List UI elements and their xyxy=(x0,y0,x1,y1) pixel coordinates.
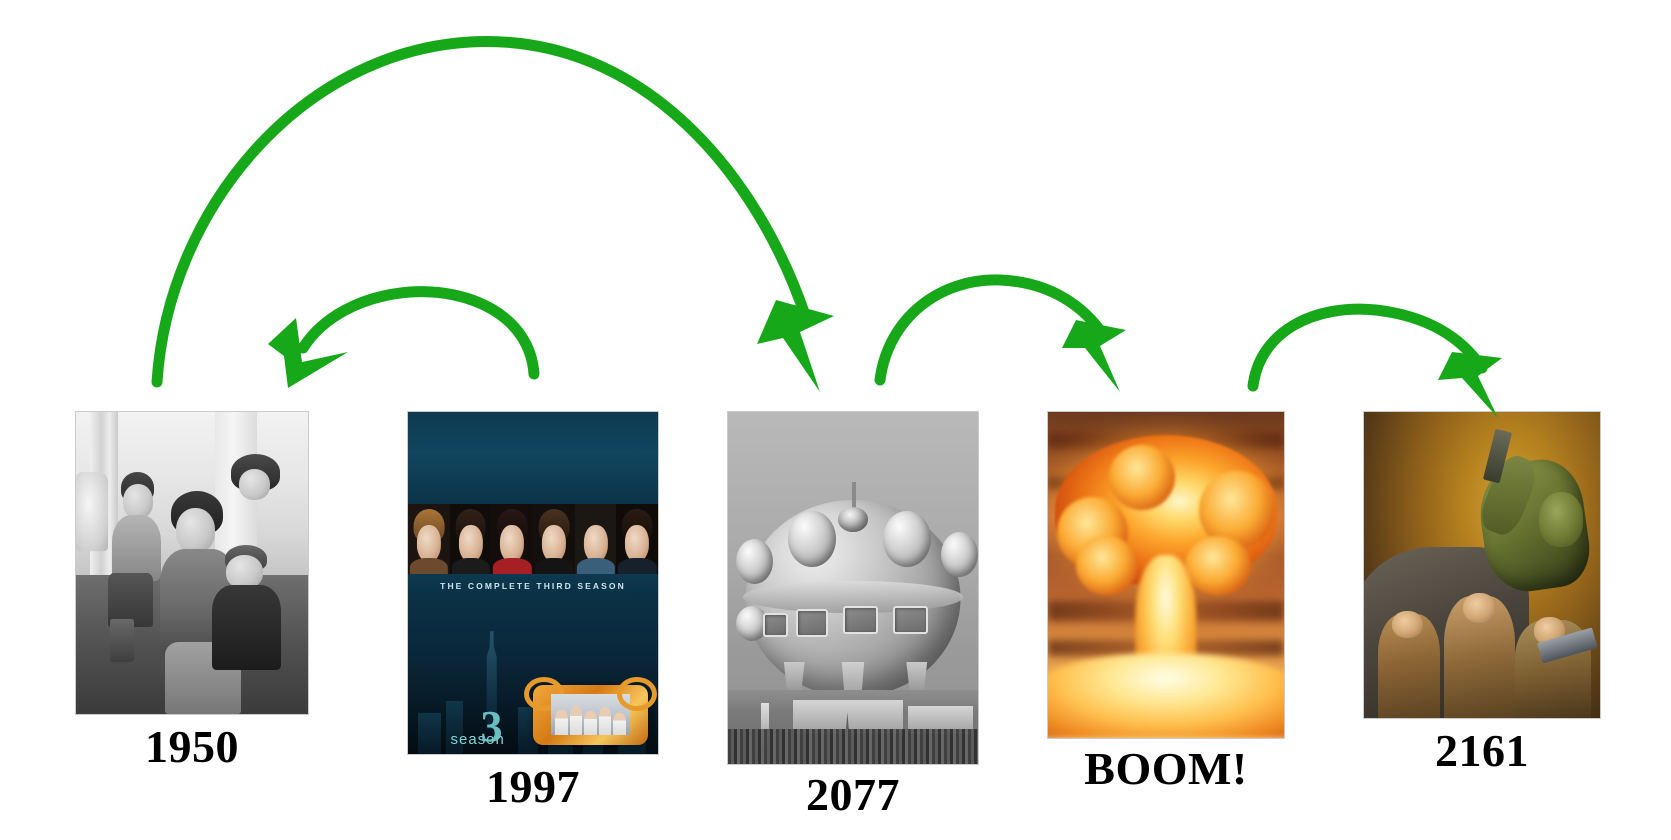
caption-1950: 1950 xyxy=(145,720,239,773)
season-subtitle: THE COMPLETE THIRD SEASON xyxy=(440,581,626,591)
arrow-boom-to-2161 xyxy=(1253,309,1502,418)
caption-2161: 2161 xyxy=(1435,724,1529,777)
friends-dvd-cover: F R I E N D S xyxy=(408,412,658,754)
arrow-1997-to-1950 xyxy=(268,292,534,388)
panel-1950[interactable]: 1950 xyxy=(76,412,308,714)
caption-boom: BOOM! xyxy=(1084,742,1247,795)
season-subtitle-bar: THE COMPLETE THIRD SEASON xyxy=(408,574,658,596)
panel-boom[interactable]: BOOM! xyxy=(1048,412,1284,738)
panel-2077[interactable]: 2077 xyxy=(728,412,978,764)
peephole-frame xyxy=(533,685,648,745)
caption-2077: 2077 xyxy=(806,768,900,821)
cast-portrait-strip xyxy=(408,504,658,574)
timeline-canvas: 1950 F R I E N D S xyxy=(0,0,1671,840)
cast-group-photo xyxy=(551,694,629,735)
season-number: 3 xyxy=(481,709,503,744)
arrow-1950-to-2077 xyxy=(157,42,834,392)
retro-flying-saucer xyxy=(728,412,978,764)
vintage-family-photo xyxy=(76,412,308,714)
arrow-2077-to-boom xyxy=(880,280,1126,392)
post-apocalyptic-artwork xyxy=(1364,412,1600,718)
nuclear-explosion xyxy=(1048,412,1284,738)
caption-1997: 1997 xyxy=(486,760,580,813)
panel-2161[interactable]: 2161 xyxy=(1364,412,1600,718)
panel-1997[interactable]: F R I E N D S xyxy=(408,412,658,754)
